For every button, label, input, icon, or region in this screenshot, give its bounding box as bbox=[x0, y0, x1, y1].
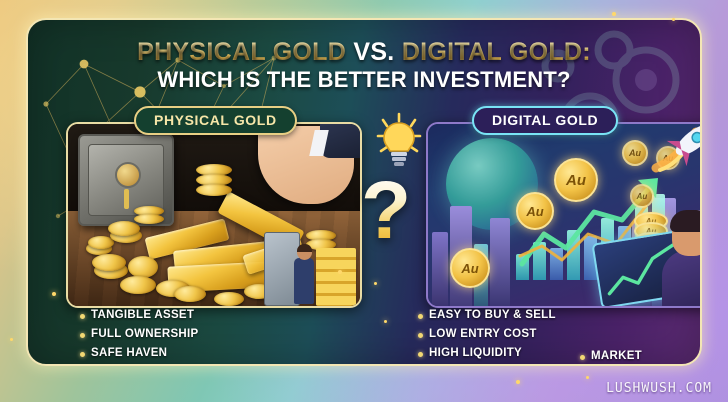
bullet-dot-icon bbox=[418, 314, 423, 319]
sparkle-icon bbox=[612, 12, 616, 16]
bullet-dot-icon bbox=[80, 314, 85, 319]
scene-cyberspace: Au Au Au Au Au Au Au Au Au bbox=[428, 124, 702, 306]
list-item: MARKET VOLATILITY bbox=[580, 349, 700, 366]
gold-coin bbox=[120, 276, 156, 294]
list-item: TANGIBLE ASSET bbox=[80, 308, 290, 323]
vault-gold-stack bbox=[316, 248, 356, 306]
bullet-label: ELECTRONIC OWNERSHIP(ETF, SGB) bbox=[429, 365, 584, 366]
au-coin-icon: Au bbox=[554, 158, 598, 202]
list-item: EASY TO BUY & SELL bbox=[418, 308, 584, 323]
bullet-dot-icon bbox=[418, 333, 423, 338]
digital-gold-scene: Au Au Au Au Au Au Au Au Au bbox=[426, 122, 702, 308]
gold-coin bbox=[174, 286, 206, 302]
bullet-dot-icon bbox=[80, 333, 85, 338]
headline-line-1: PHYSICAL GOLD VS. DIGITAL GOLD: bbox=[28, 40, 700, 66]
badge-physical-gold: PHYSICAL GOLD bbox=[134, 106, 297, 135]
list-item: SECURE STORAGE (Costs & Risks) bbox=[80, 365, 290, 366]
sparkle-icon bbox=[586, 376, 589, 379]
scene-room bbox=[68, 124, 360, 306]
bullet-label: SAFE HAVEN bbox=[91, 346, 167, 361]
rocket-icon bbox=[648, 122, 702, 176]
headline-subtitle: WHICH IS THE BETTER INVESTMENT? bbox=[28, 69, 700, 91]
list-item: HIGH LIQUIDITY bbox=[418, 346, 584, 361]
digital-gold-risk-list: MARKET VOLATILITY COUNTERPARTY RISK bbox=[580, 349, 700, 366]
safe-dial bbox=[115, 162, 141, 188]
lightbulb-icon bbox=[376, 112, 422, 168]
skyline-building bbox=[490, 218, 510, 306]
bullet-label: HIGH LIQUIDITY bbox=[429, 346, 522, 361]
bullet-dot-icon bbox=[580, 355, 585, 360]
sparkle-icon bbox=[374, 282, 377, 285]
headline-digital-gold: DIGITAL GOLD: bbox=[402, 38, 591, 66]
au-coin-icon: Au bbox=[622, 140, 648, 166]
vault-man-illustration bbox=[264, 232, 356, 306]
bullet-label: LOW ENTRY COST bbox=[429, 327, 537, 342]
list-item: ELECTRONIC OWNERSHIP(ETF, SGB) bbox=[418, 365, 584, 366]
infographic-canvas: PHYSICAL GOLD VS. DIGITAL GOLD: WHICH IS… bbox=[0, 0, 728, 402]
digital-investor-illustration bbox=[650, 202, 702, 306]
headline: PHYSICAL GOLD VS. DIGITAL GOLD: WHICH IS… bbox=[28, 40, 700, 91]
watermark: LUSHWUSH.COM bbox=[606, 381, 712, 396]
investor-hair bbox=[670, 210, 702, 232]
infographic-panel: PHYSICAL GOLD VS. DIGITAL GOLD: WHICH IS… bbox=[26, 18, 702, 366]
vault-man-hair bbox=[297, 244, 312, 252]
au-coin-icon: Au bbox=[450, 248, 490, 288]
list-item: LOW ENTRY COST bbox=[418, 327, 584, 342]
headline-vs: VS. bbox=[353, 38, 401, 66]
question-mark-icon: ? bbox=[361, 170, 411, 252]
sparkle-icon bbox=[384, 320, 387, 323]
safe-key bbox=[124, 189, 129, 209]
physical-gold-scene bbox=[66, 122, 362, 308]
bullet-dot-icon bbox=[80, 352, 85, 357]
sparkle-icon bbox=[52, 292, 56, 296]
sparkle-icon bbox=[338, 270, 342, 274]
badge-digital-gold: DIGITAL GOLD bbox=[472, 106, 618, 135]
vault-man-body bbox=[294, 258, 314, 304]
gold-coin bbox=[134, 214, 164, 224]
skyline-building bbox=[432, 232, 448, 306]
gold-coin bbox=[92, 254, 126, 271]
gold-coin bbox=[108, 221, 140, 236]
list-item: FULL OWNERSHIP bbox=[80, 327, 290, 342]
bullet-label: TANGIBLE ASSET bbox=[91, 308, 194, 323]
gold-coin bbox=[128, 256, 158, 278]
bullet-label: EASY TO BUY & SELL bbox=[429, 308, 556, 323]
investor-body bbox=[662, 250, 702, 306]
digital-gold-bullet-list: EASY TO BUY & SELL LOW ENTRY COST HIGH L… bbox=[418, 308, 584, 366]
physical-gold-bullet-list: TANGIBLE ASSET FULL OWNERSHIP SAFE HAVEN… bbox=[80, 308, 290, 366]
bullet-label: MARKET VOLATILITY bbox=[591, 349, 700, 366]
list-item: SAFE HAVEN bbox=[80, 346, 290, 361]
sparkle-icon bbox=[672, 18, 675, 21]
gold-coin bbox=[196, 184, 232, 196]
sparkle-icon bbox=[10, 338, 13, 341]
bullet-label: SECURE STORAGE (Costs & Risks) bbox=[91, 365, 290, 366]
headline-physical-gold: PHYSICAL GOLD bbox=[137, 38, 353, 66]
sparkle-icon bbox=[516, 380, 520, 384]
gold-coin bbox=[214, 292, 244, 306]
au-coin-icon: Au bbox=[516, 192, 554, 230]
bullet-dot-icon bbox=[418, 352, 423, 357]
bullet-label: FULL OWNERSHIP bbox=[91, 327, 199, 342]
